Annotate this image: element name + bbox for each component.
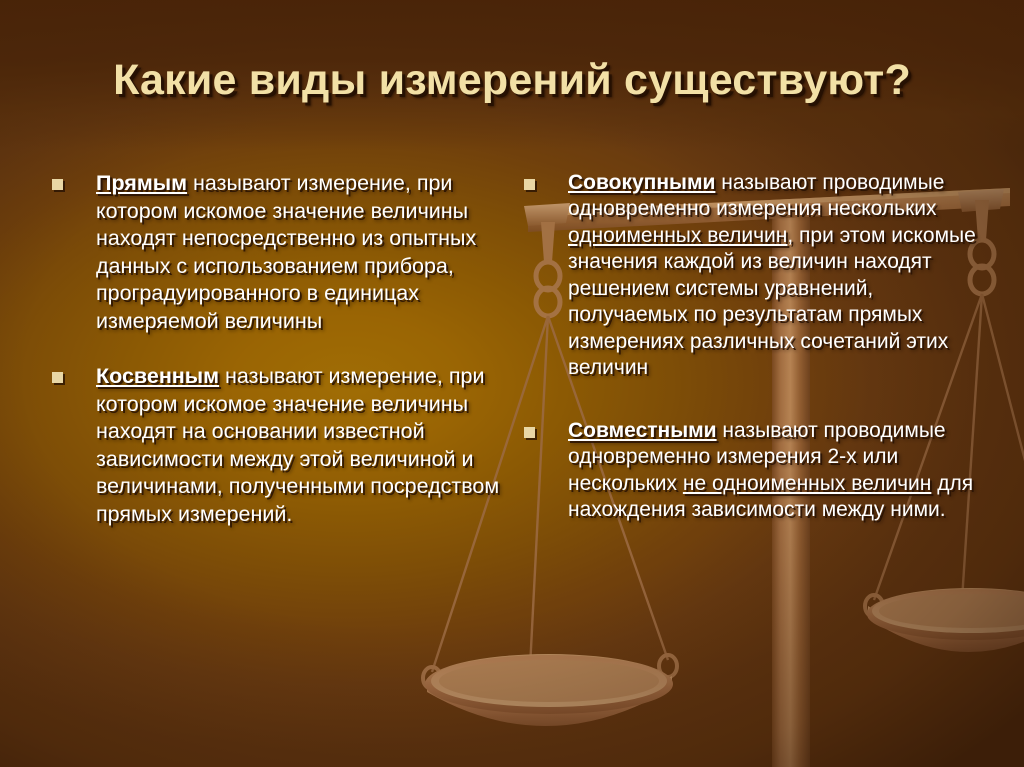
bullet-text: Совместными называют проводимые одноврем… bbox=[535, 418, 994, 524]
keyword-term: Совокупными bbox=[568, 171, 715, 194]
keyword-term: Совместными bbox=[568, 419, 717, 442]
list-item: Совместными называют проводимые одноврем… bbox=[524, 418, 994, 524]
bullet-emphasis: не одноименных величин bbox=[683, 472, 931, 495]
scales-left-pan bbox=[425, 654, 673, 726]
bullet-body: называют измерение, при котором искомое … bbox=[96, 171, 476, 333]
scales-right-pan bbox=[867, 588, 1024, 652]
bullet-body-part2: , при этом искомые значения каждой из ве… bbox=[568, 224, 976, 379]
page-title: Какие виды измерений существуют? bbox=[0, 58, 1024, 103]
square-bullet-icon bbox=[524, 427, 535, 438]
list-item: Косвенным называют измерение, при которо… bbox=[52, 363, 504, 528]
bullet-text: Косвенным называют измерение, при которо… bbox=[63, 363, 504, 528]
list-item: Прямым называют измерение, при котором и… bbox=[52, 170, 504, 335]
bullet-body: называют измерение, при котором искомое … bbox=[96, 364, 499, 526]
square-bullet-icon bbox=[524, 179, 535, 190]
bullet-emphasis: одноименных величин bbox=[568, 224, 787, 247]
slide: Какие виды измерений существуют? Прямым … bbox=[0, 0, 1024, 767]
left-column: Прямым называют измерение, при котором и… bbox=[52, 170, 504, 528]
bullet-text: Прямым называют измерение, при котором и… bbox=[63, 170, 504, 335]
keyword-term: Косвенным bbox=[96, 364, 219, 388]
list-item: Совокупными называют проводимые одноврем… bbox=[524, 170, 994, 382]
square-bullet-icon bbox=[52, 179, 63, 190]
right-column: Совокупными называют проводимые одноврем… bbox=[524, 170, 994, 523]
keyword-term: Прямым bbox=[96, 171, 187, 195]
bullet-text: Совокупными называют проводимые одноврем… bbox=[535, 170, 994, 382]
square-bullet-icon bbox=[52, 372, 63, 383]
